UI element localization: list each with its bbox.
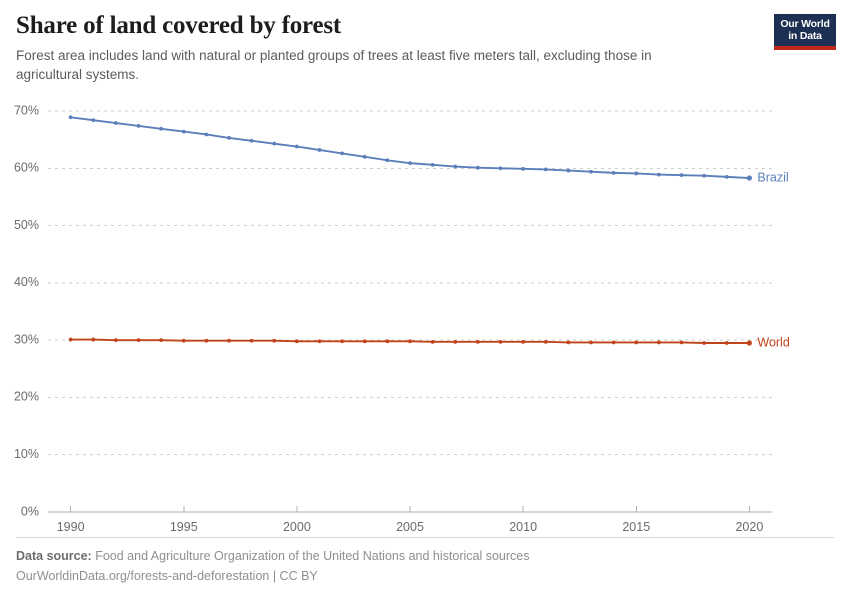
y-axis-label: 20% xyxy=(14,390,39,404)
data-point-marker[interactable] xyxy=(227,339,231,343)
data-point-marker[interactable] xyxy=(702,174,706,178)
data-point-marker[interactable] xyxy=(476,340,480,344)
our-world-in-data-logo[interactable]: Our World in Data xyxy=(774,14,836,50)
data-point-marker[interactable] xyxy=(272,142,276,146)
data-point-marker[interactable] xyxy=(453,340,457,344)
data-point-marker[interactable] xyxy=(453,165,457,169)
chart-subtitle: Forest area includes land with natural o… xyxy=(16,46,716,84)
y-axis-label: 60% xyxy=(14,161,39,175)
data-point-marker[interactable] xyxy=(680,173,684,177)
series-end-marker xyxy=(747,340,752,345)
data-point-marker[interactable] xyxy=(318,339,322,343)
data-point-marker[interactable] xyxy=(612,171,616,175)
x-axis-label: 2000 xyxy=(283,520,311,534)
data-point-marker[interactable] xyxy=(91,118,95,122)
data-point-marker[interactable] xyxy=(363,155,367,159)
series-brazil[interactable]: Brazil xyxy=(69,115,789,184)
line-chart-svg[interactable]: 0%10%20%30%40%50%60%70%19901995200020052… xyxy=(0,95,850,535)
data-point-marker[interactable] xyxy=(657,173,661,177)
x-axis-label: 2015 xyxy=(622,520,650,534)
data-point-marker[interactable] xyxy=(250,339,254,343)
data-point-marker[interactable] xyxy=(725,175,729,179)
data-point-marker[interactable] xyxy=(137,124,141,128)
data-point-marker[interactable] xyxy=(431,163,435,167)
data-point-marker[interactable] xyxy=(544,168,548,172)
data-point-marker[interactable] xyxy=(544,340,548,344)
data-point-marker[interactable] xyxy=(680,341,684,345)
data-point-marker[interactable] xyxy=(159,127,163,131)
data-point-marker[interactable] xyxy=(204,133,208,137)
data-point-marker[interactable] xyxy=(499,166,503,170)
data-point-marker[interactable] xyxy=(408,339,412,343)
data-point-marker[interactable] xyxy=(318,148,322,152)
data-point-marker[interactable] xyxy=(566,341,570,345)
data-point-marker[interactable] xyxy=(521,340,525,344)
data-point-marker[interactable] xyxy=(499,340,503,344)
data-source-text: Food and Agriculture Organization of the… xyxy=(92,549,530,563)
data-point-marker[interactable] xyxy=(725,341,729,345)
data-source-label: Data source: xyxy=(16,549,92,563)
data-point-marker[interactable] xyxy=(159,338,163,342)
series-label[interactable]: World xyxy=(757,335,789,349)
chart-header: Share of land covered by forest Forest a… xyxy=(16,12,756,84)
data-point-marker[interactable] xyxy=(227,136,231,140)
data-point-marker[interactable] xyxy=(476,166,480,170)
data-point-marker[interactable] xyxy=(363,339,367,343)
data-point-marker[interactable] xyxy=(182,130,186,134)
data-point-marker[interactable] xyxy=(634,172,638,176)
data-point-marker[interactable] xyxy=(657,341,661,345)
data-point-marker[interactable] xyxy=(566,169,570,173)
data-point-marker[interactable] xyxy=(91,338,95,342)
series-world[interactable]: World xyxy=(69,335,790,349)
y-axis-label: 0% xyxy=(21,504,39,518)
data-point-marker[interactable] xyxy=(634,341,638,345)
data-point-marker[interactable] xyxy=(114,338,118,342)
y-axis-label: 30% xyxy=(14,332,39,346)
data-point-marker[interactable] xyxy=(589,341,593,345)
logo-line-2: in Data xyxy=(779,30,831,42)
logo-line-1: Our World xyxy=(779,18,831,30)
x-axis-label: 2010 xyxy=(509,520,537,534)
series-label[interactable]: Brazil xyxy=(757,170,788,184)
data-point-marker[interactable] xyxy=(340,151,344,155)
x-axis-label: 1990 xyxy=(57,520,85,534)
data-point-marker[interactable] xyxy=(204,339,208,343)
data-point-marker[interactable] xyxy=(272,339,276,343)
data-point-marker[interactable] xyxy=(589,170,593,174)
data-point-marker[interactable] xyxy=(250,139,254,143)
footer-divider xyxy=(16,537,834,538)
x-axis-label: 2020 xyxy=(735,520,763,534)
y-axis-label: 10% xyxy=(14,447,39,461)
x-axis-label: 2005 xyxy=(396,520,424,534)
data-point-marker[interactable] xyxy=(612,341,616,345)
data-point-marker[interactable] xyxy=(340,339,344,343)
series-line[interactable] xyxy=(71,117,750,178)
chart-canvas[interactable]: 0%10%20%30%40%50%60%70%19901995200020052… xyxy=(0,95,850,535)
page-title: Share of land covered by forest xyxy=(16,12,756,40)
data-point-marker[interactable] xyxy=(69,338,73,342)
data-point-marker[interactable] xyxy=(385,339,389,343)
x-axis-label: 1995 xyxy=(170,520,198,534)
data-point-marker[interactable] xyxy=(385,158,389,162)
data-point-marker[interactable] xyxy=(114,121,118,125)
series-end-marker xyxy=(747,175,752,180)
data-point-marker[interactable] xyxy=(137,338,141,342)
data-point-marker[interactable] xyxy=(702,341,706,345)
chart-footer: Data source: Food and Agriculture Organi… xyxy=(16,547,816,586)
y-axis-label: 50% xyxy=(14,218,39,232)
data-point-marker[interactable] xyxy=(431,340,435,344)
y-axis-label: 70% xyxy=(14,103,39,117)
y-axis-label: 40% xyxy=(14,275,39,289)
data-point-marker[interactable] xyxy=(295,339,299,343)
data-point-marker[interactable] xyxy=(408,161,412,165)
attribution-line[interactable]: OurWorldinData.org/forests-and-deforesta… xyxy=(16,567,816,586)
chart-page: Share of land covered by forest Forest a… xyxy=(0,0,850,600)
data-source-line: Data source: Food and Agriculture Organi… xyxy=(16,547,816,566)
data-point-marker[interactable] xyxy=(182,339,186,343)
data-point-marker[interactable] xyxy=(69,115,73,119)
data-point-marker[interactable] xyxy=(295,145,299,149)
data-point-marker[interactable] xyxy=(521,167,525,171)
